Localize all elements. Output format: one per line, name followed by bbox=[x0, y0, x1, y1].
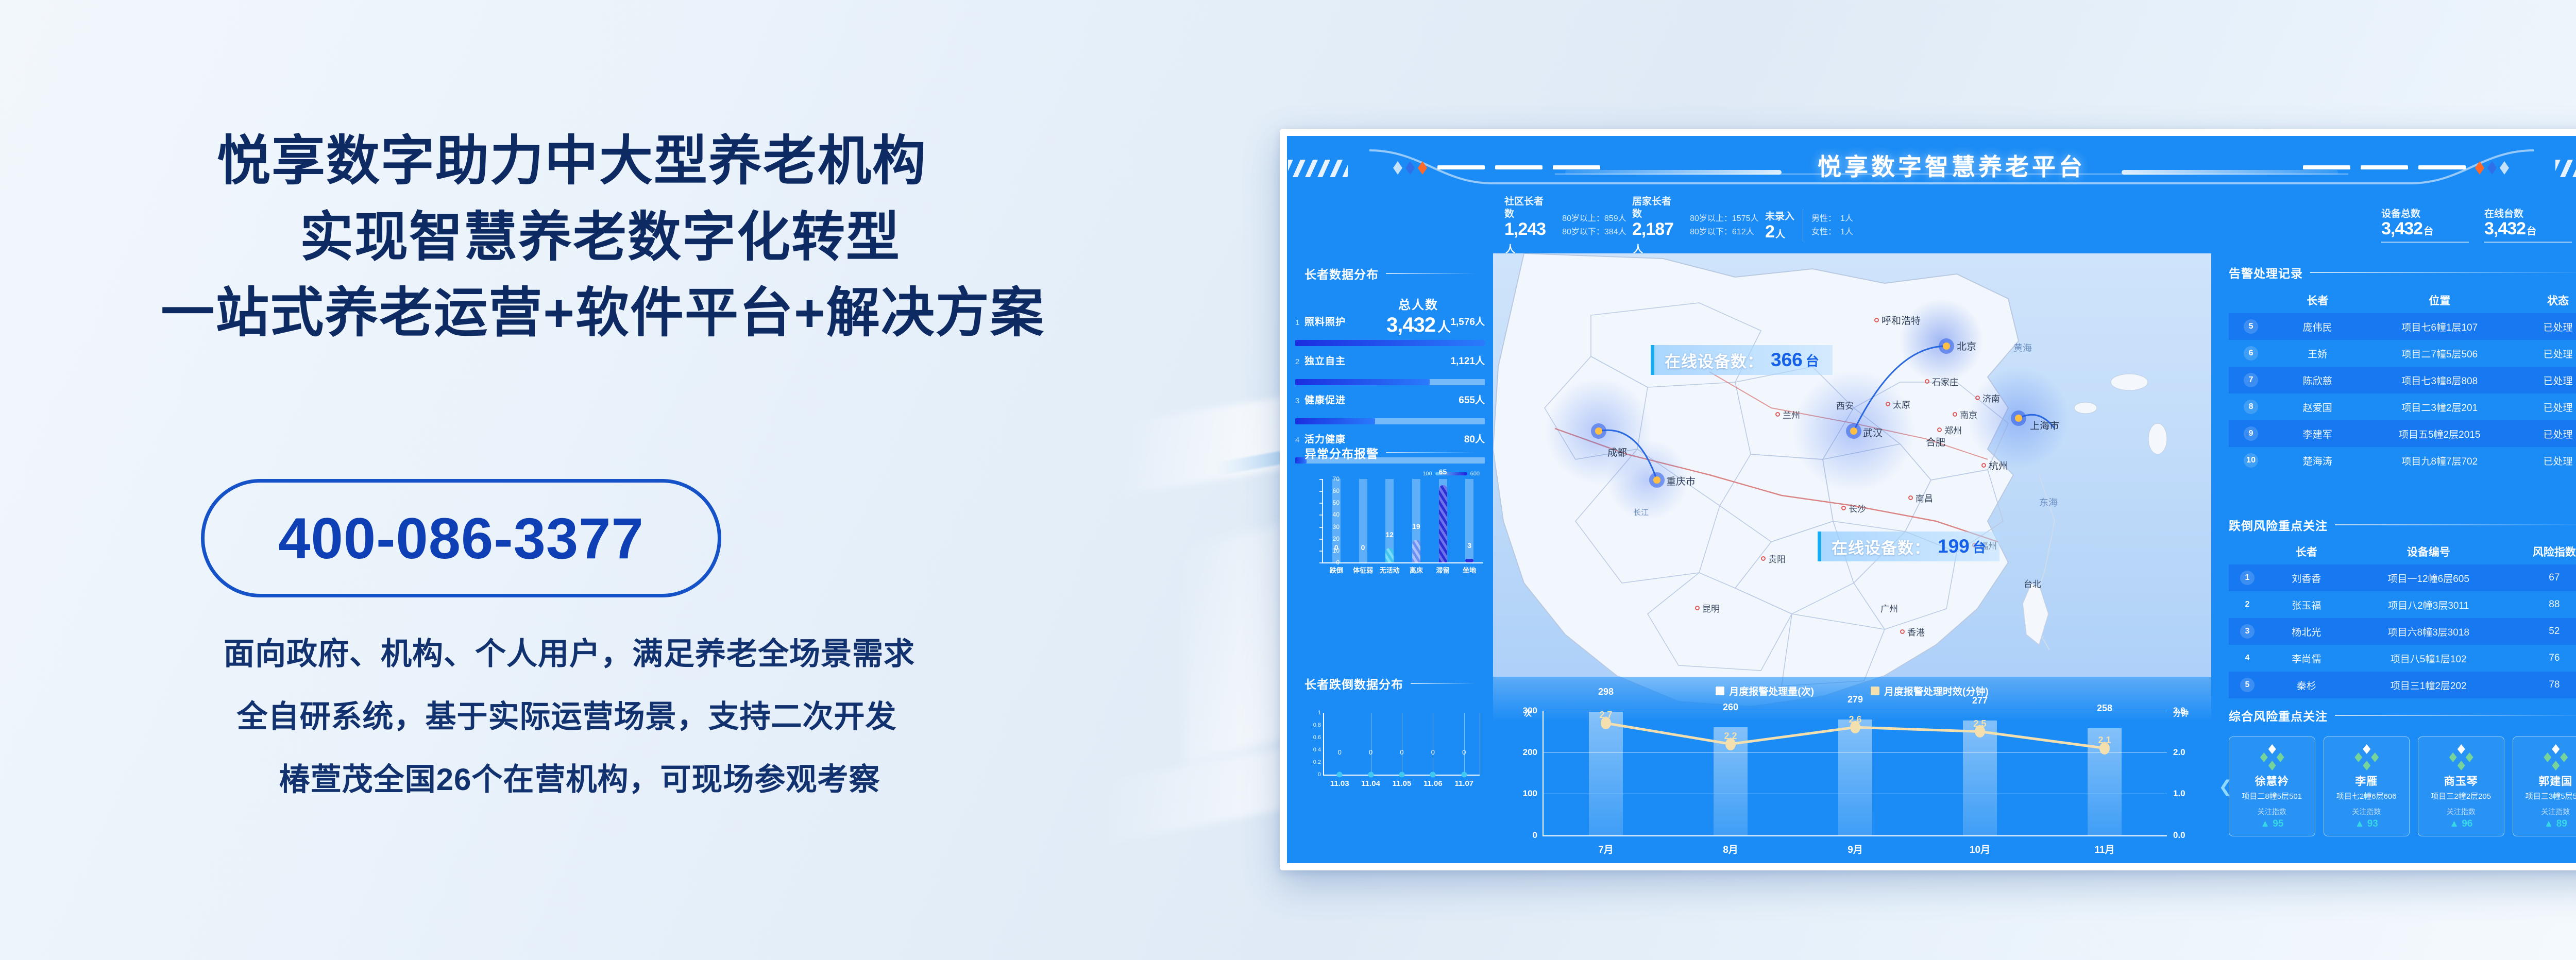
overall-risk-card-2-name: 李雁 bbox=[2327, 773, 2406, 788]
kpi-device-online-unit: 台 bbox=[2527, 226, 2536, 237]
map-city-taipei: 台北 bbox=[2024, 577, 2041, 590]
map-node-chongqing[interactable] bbox=[1653, 476, 1660, 484]
table-row[interactable]: 1 刘香香 项目一12幢6层605 67 bbox=[2229, 564, 2576, 591]
kpi-device-total-unit: 台 bbox=[2424, 226, 2433, 237]
elder-row-2-name: 独立自主 bbox=[1304, 353, 1346, 367]
fall-xlabel-2: 11.04 bbox=[1361, 779, 1380, 788]
fall-risk-row-1-index: 1 bbox=[2240, 571, 2255, 585]
abnormal-legend-min: 100 bbox=[1422, 471, 1432, 477]
elder-row-1-index: 1 bbox=[1295, 318, 1304, 327]
panel-fall-risk: 跌倒风险重点关注 长者 设备编号 风险指数 1 刘香香 bbox=[2211, 511, 2576, 701]
map-callout-199-value: 199 bbox=[1938, 536, 1970, 557]
map-city-hangzhou: 杭州 bbox=[1981, 458, 2008, 472]
kpi-unrecorded-value: 2 bbox=[1765, 222, 1774, 242]
abnormal-bar-out-of-bed[interactable]: 19 离床 bbox=[1403, 479, 1430, 562]
diamond-cluster-icon bbox=[2421, 744, 2501, 771]
overall-risk-card-1-location: 项目二8幢5层501 bbox=[2232, 791, 2312, 801]
monthly-xlabel-jul: 7月 bbox=[1598, 842, 1614, 856]
table-row[interactable]: 4 李尚儒 项目八5幢1层102 76 bbox=[2229, 645, 2576, 672]
headline-line-2: 实现智慧养老数字化转型 bbox=[57, 200, 1144, 276]
abnormal-bar-out-of-bed-value: 19 bbox=[1412, 522, 1420, 530]
map-node-wuhan[interactable] bbox=[1850, 427, 1857, 435]
subheadline-3: 椿萱茂全国26个在营机构，可现场参观考察 bbox=[15, 764, 1144, 795]
fall-risk-title: 跌倒风险重点关注 bbox=[2229, 516, 2576, 534]
kpi-device-online-value: 3,432 bbox=[2484, 219, 2526, 238]
kpi-community-under80: 80岁以下：384人 bbox=[1562, 226, 1626, 239]
overall-risk-card[interactable]: 徐慧衿 项目二8幢5层501 关注指数 ▲ 95 bbox=[2229, 736, 2315, 836]
kpi-device-total-label: 设备总数 bbox=[2381, 208, 2469, 220]
alarm-row-3-status: 已处理 bbox=[2517, 367, 2576, 393]
table-row[interactable]: 7 陈欣慈 项目七3幢8层808 已处理 bbox=[2229, 367, 2576, 393]
alarm-row-1-location: 项目七6幢1层107 bbox=[2362, 313, 2517, 340]
table-row[interactable]: 3 杨北光 项目六8幢3层3018 52 bbox=[2229, 618, 2576, 645]
fall-point[interactable] bbox=[1430, 772, 1436, 778]
map-callout-online-199[interactable]: 在线设备数： 199 台 bbox=[1818, 532, 1999, 561]
legend-item-volume[interactable]: 月度报警处理量(次) bbox=[1716, 684, 1814, 698]
table-row[interactable]: 6 王娇 项目二7幢5层506 已处理 bbox=[2229, 340, 2576, 367]
alarm-log-table[interactable]: 长者 位置 状态 5 庞伟民 项目七6幢1层107 已处理 bbox=[2229, 287, 2576, 474]
map-city-huhehaote: 呼和浩特 bbox=[1874, 313, 1921, 327]
alarm-row-1-name: 庞伟民 bbox=[2273, 313, 2362, 340]
fall-risk-row-3-device: 项目六8幢3层3018 bbox=[2347, 618, 2510, 645]
map-city-hongkong: 香港 bbox=[1900, 625, 1925, 638]
map-city-chongqing: 重庆市 bbox=[1666, 474, 1696, 488]
map-city-shijiazhuang: 石家庄 bbox=[1925, 375, 1958, 388]
legend-swatch-volume-icon bbox=[1716, 687, 1724, 695]
fall-risk-row-4-device: 项目八5幢1层102 bbox=[2347, 645, 2510, 672]
elder-row-2-value: 1,121人 bbox=[1450, 353, 1485, 367]
table-row[interactable]: 5 庞伟民 项目七6幢1层107 已处理 bbox=[2229, 313, 2576, 340]
alarm-row-1-index: 5 bbox=[2244, 319, 2258, 334]
kpi-device-total[interactable]: 设备总数 3,432台 bbox=[2366, 198, 2484, 253]
subheadline-1: 面向政府、机构、个人用户，满足养老全场景需求 bbox=[0, 639, 1144, 670]
monthly-xlabel-aug: 8月 bbox=[1723, 842, 1738, 856]
fall-value-4: 0 bbox=[1431, 748, 1435, 756]
abnormal-bar-out-of-bed-label: 离床 bbox=[1410, 565, 1423, 575]
subheadline-block: 面向政府、机构、个人用户，满足养老全场景需求 全自研系统，基于实际运营场景，支持… bbox=[62, 639, 1144, 827]
overall-risk-card-4-score: 89 bbox=[2556, 818, 2567, 829]
alarm-col-location: 位置 bbox=[2362, 287, 2517, 313]
carousel-prev-icon[interactable]: ❮ bbox=[2218, 777, 2232, 796]
up-triangle-icon: ▲ bbox=[2260, 818, 2270, 829]
alarm-col-index bbox=[2229, 287, 2273, 313]
table-row[interactable]: 5 秦杉 项目三1幢2层202 78 bbox=[2229, 672, 2576, 698]
abnormal-bar-stay[interactable]: 65 滞留 bbox=[1430, 479, 1456, 562]
fall-value-2: 0 bbox=[1369, 748, 1372, 756]
map-city-hefei: 合肥 bbox=[1926, 435, 1945, 449]
table-row[interactable]: 10 楚海涛 项目九8幢7层702 已处理 bbox=[2229, 447, 2576, 474]
map-city-kunming: 昆明 bbox=[1695, 602, 1720, 614]
monthly-chart-plot: 300 200 100 0 3.0 2.0 1.0 0.0 298 7月 260… bbox=[1543, 711, 2167, 836]
alarm-row-5-name: 李建军 bbox=[2273, 420, 2362, 447]
elder-distribution-row[interactable]: 1 照料照护 1,576人 bbox=[1295, 314, 1485, 353]
kpi-unrecorded-male: 男性： 1人 bbox=[1811, 212, 1853, 226]
abnormal-bar-weak-vitals[interactable]: 0 体征弱 bbox=[1350, 479, 1377, 562]
elder-row-3-index: 3 bbox=[1295, 397, 1304, 405]
monthly-bar-value-sep: 279 bbox=[1848, 694, 1863, 705]
monthly-xlabel-sep: 9月 bbox=[1848, 842, 1863, 856]
overall-risk-card-1-index-label: 关注指数 bbox=[2232, 807, 2312, 817]
map-city-wuhan: 武汉 bbox=[1863, 425, 1883, 439]
map-flight-arcs-icon bbox=[1493, 253, 2211, 727]
kpi-home[interactable]: 居家长者数 2,187人 80岁以上：1575人 80岁以下：612人 bbox=[1622, 198, 1755, 253]
map-callout-199-label: 在线设备数： bbox=[1832, 535, 1930, 558]
alarm-row-3-index: 7 bbox=[2244, 373, 2258, 387]
alarm-row-6-index: 10 bbox=[2244, 453, 2258, 468]
up-triangle-icon: ▲ bbox=[2449, 818, 2459, 829]
overall-risk-card-1-name: 徐慧衿 bbox=[2232, 773, 2312, 788]
monthly-alarm-chart[interactable]: 月度报警处理量(次) 月度报警处理时效(分钟) 次 分钟 300 200 100… bbox=[1493, 677, 2211, 863]
monthly-bar-value-jul: 298 bbox=[1598, 687, 1614, 697]
elder-row-3-value: 655人 bbox=[1459, 392, 1485, 406]
map-city-nanchang: 南昌 bbox=[1908, 491, 1933, 504]
overall-risk-card-3-name: 商玉琴 bbox=[2421, 773, 2501, 788]
overall-risk-card[interactable]: 李雁 项目七2幢6层606 关注指数 ▲ 93 bbox=[2324, 736, 2410, 836]
headline-line-3: 一站式养老运营+软件平台+解决方案 bbox=[62, 276, 1144, 352]
fall-value-3: 0 bbox=[1400, 748, 1403, 756]
overall-risk-card-3-index-label: 关注指数 bbox=[2421, 807, 2501, 817]
map-node-chengdu[interactable] bbox=[1595, 427, 1602, 435]
fall-xlabel-3: 11.05 bbox=[1393, 779, 1412, 788]
elder-row-3-name: 健康促进 bbox=[1304, 392, 1346, 406]
fall-risk-row-2-device: 项目八2幢3层3011 bbox=[2347, 591, 2510, 618]
fall-point[interactable] bbox=[1368, 772, 1374, 778]
alarm-row-4-name: 赵爱国 bbox=[2273, 393, 2362, 420]
alarm-row-3-location: 项目七3幢8层808 bbox=[2362, 367, 2517, 393]
alarm-row-2-location: 项目二7幢5层506 bbox=[2362, 340, 2517, 367]
alarm-row-6-name: 楚海涛 bbox=[2273, 447, 2362, 474]
kpi-unrecorded-label: 未录入 bbox=[1765, 211, 1794, 223]
table-row[interactable]: 9 李建军 项目五5幢2层2015 已处理 bbox=[2229, 420, 2576, 447]
abnormal-chart-axes: 70 60 50 40 30 20 10 0 0 bbox=[1322, 479, 1483, 563]
abnormal-bar-weak-vitals-value: 0 bbox=[1361, 543, 1365, 552]
fall-risk-row-3-name: 杨北光 bbox=[2266, 618, 2347, 645]
abnormal-bar-stay-value: 65 bbox=[1439, 468, 1447, 476]
alarm-row-4-status: 已处理 bbox=[2517, 393, 2576, 420]
up-triangle-icon: ▲ bbox=[2355, 818, 2365, 829]
elder-distribution-title: 长者数据分布 bbox=[1304, 265, 1476, 282]
fall-risk-row-5-device: 项目三1幢2层202 bbox=[2347, 672, 2510, 698]
fall-xlabel-5: 11.07 bbox=[1454, 779, 1473, 788]
right-panel-column: 告警处理记录 长者 位置 状态 5 庞伟民 bbox=[2211, 253, 2576, 863]
overall-risk-card[interactable]: 商玉琴 项目三2幢2层205 关注指数 ▲ 96 bbox=[2418, 736, 2504, 836]
map-city-jinan: 济南 bbox=[1975, 391, 2000, 404]
elder-total-label: 总人数 bbox=[1354, 295, 1483, 313]
fall-risk-col-score: 风险指数 bbox=[2510, 539, 2576, 564]
map-callout-online-366[interactable]: 在线设备数： 366 台 bbox=[1651, 345, 1833, 375]
fall-risk-col-elder: 长者 bbox=[2266, 539, 2347, 564]
monitor: 悦享数字智慧养老平台 社区长者数 1,243人 80岁以上：859人 80岁以下… bbox=[1280, 129, 2576, 870]
alarm-row-4-location: 项目二3幢2层201 bbox=[2362, 393, 2517, 420]
kpi-unrecorded[interactable]: 未录入 2人 男性： 1人 女性： 1人 bbox=[1755, 198, 1884, 253]
dashboard-header: 悦享数字智慧养老平台 bbox=[1287, 136, 2576, 198]
overall-risk-card-list: 徐慧衿 项目二8幢5层501 关注指数 ▲ 95 bbox=[2211, 736, 2576, 836]
map-city-lanzhou: 兰州 bbox=[1775, 408, 1800, 421]
alarm-row-5-index: 9 bbox=[2244, 426, 2258, 441]
phone-cta[interactable]: 400-086-3377 bbox=[201, 479, 721, 597]
legend-swatch-efficiency-icon bbox=[1871, 687, 1879, 695]
map-callout-199-unit: 台 bbox=[1973, 537, 1986, 556]
abnormal-bar-sit-floor-label: 坐地 bbox=[1463, 565, 1476, 575]
map-city-xian: 西安 bbox=[1836, 399, 1854, 412]
phone-number: 400-086-3377 bbox=[278, 505, 643, 572]
overall-risk-card-4-index-label: 关注指数 bbox=[2516, 807, 2576, 817]
fall-value-1: 0 bbox=[1338, 748, 1342, 756]
elder-distribution-row[interactable]: 2 独立自主 1,121人 bbox=[1295, 353, 1485, 392]
monthly-xlabel-nov: 11月 bbox=[2094, 842, 2114, 856]
alarm-row-5-status: 已处理 bbox=[2517, 420, 2576, 447]
monthly-bar-value-oct: 277 bbox=[1972, 695, 1988, 706]
fall-risk-row-5-index: 5 bbox=[2240, 678, 2255, 692]
abnormal-chart-legend: 100 600 bbox=[1422, 471, 1480, 477]
fall-value-5: 0 bbox=[1462, 748, 1466, 756]
kpi-home-under80: 80岁以下：612人 bbox=[1690, 226, 1758, 239]
fall-risk-row-4-name: 李尚儒 bbox=[2266, 645, 2347, 672]
monthly-line-value-nov: 2.1 bbox=[2098, 735, 2111, 746]
map-city-taiyuan: 太原 bbox=[1886, 398, 1910, 410]
alarm-col-status: 状态 bbox=[2517, 287, 2576, 313]
map-sea-huanghai: 黄海 bbox=[2013, 341, 2032, 354]
abnormal-bar-no-activity[interactable]: 12 无活动 bbox=[1376, 479, 1403, 562]
elder-row-1-name: 照料照护 bbox=[1304, 314, 1346, 328]
monthly-line-value-jul: 2.7 bbox=[1599, 710, 1612, 721]
kpi-device-online[interactable]: 在线台数 3,432台 bbox=[2484, 198, 2576, 253]
headline-block: 悦享数字助力中大型养老机构 实现智慧养老数字化转型 一站式养老运营+软件平台+解… bbox=[62, 124, 1144, 352]
kpi-home-value: 2,187 bbox=[1632, 219, 1673, 239]
diamond-cluster-icon bbox=[2327, 744, 2406, 771]
elder-distribution-row[interactable]: 3 健康促进 655人 bbox=[1295, 392, 1485, 432]
kpi-community-value: 1,243 bbox=[1504, 219, 1546, 239]
overall-risk-card-3-score: 96 bbox=[2462, 818, 2472, 829]
alarm-log-header-row: 长者 位置 状态 bbox=[2229, 287, 2576, 313]
kpi-unrecorded-female: 女性： 1人 bbox=[1811, 226, 1853, 239]
overall-risk-title: 综合风险重点关注 bbox=[2229, 707, 2576, 724]
subheadline-2: 全自研系统，基于实际运营场景，支持二次开发 bbox=[0, 701, 1144, 732]
elder-row-2-index: 2 bbox=[1295, 357, 1304, 366]
fall-distribution-title: 长者跌倒数据分布 bbox=[1304, 675, 1476, 692]
fall-point[interactable] bbox=[1399, 772, 1405, 778]
headline-line-1: 悦享数字助力中大型养老机构 bbox=[0, 124, 1144, 200]
marketing-column: 悦享数字助力中大型养老机构 实现智慧养老数字化转型 一站式养老运营+软件平台+解… bbox=[0, 0, 1195, 960]
panel-alarm-log: 告警处理记录 长者 位置 状态 5 庞伟民 bbox=[2211, 253, 2576, 511]
table-row[interactable]: 2 张玉福 项目八2幢3层3011 88 bbox=[2229, 591, 2576, 618]
map-river-changjiang: 长江 bbox=[1633, 507, 1649, 518]
alarm-row-2-name: 王娇 bbox=[2273, 340, 2362, 367]
table-row[interactable]: 8 赵爱国 项目二3幢2层201 已处理 bbox=[2229, 393, 2576, 420]
abnormal-bar-fall-value: 0 bbox=[1334, 543, 1338, 552]
diamond-cluster-icon bbox=[2232, 744, 2312, 771]
overall-risk-card[interactable]: 郭建国 项目三3幢5层502 关注指数 ▲ 89 bbox=[2513, 736, 2576, 836]
map-callout-366-label: 在线设备数： bbox=[1665, 349, 1764, 372]
legend-item-efficiency[interactable]: 月度报警处理时效(分钟) bbox=[1871, 684, 1989, 698]
fall-risk-row-4-score: 76 bbox=[2510, 645, 2576, 672]
kpi-community[interactable]: 社区长者数 1,243人 80岁以上：859人 80岁以下：384人 bbox=[1493, 198, 1622, 253]
dashboard-screen: 悦享数字智慧养老平台 社区长者数 1,243人 80岁以上：859人 80岁以下… bbox=[1287, 136, 2576, 863]
alarm-row-1-status: 已处理 bbox=[2517, 313, 2576, 340]
abnormal-bar-no-activity-value: 12 bbox=[1385, 530, 1394, 539]
map-city-changsha: 长沙 bbox=[1841, 502, 1866, 515]
panel-overall-risk: 综合风险重点关注 ❮ ❯ 徐慧衿 bbox=[2211, 705, 2576, 863]
left-panel-column: 长者数据分布 总人数 3,432人 1 照料照护 1,576人 bbox=[1287, 253, 1493, 863]
overall-risk-card-2-score: 93 bbox=[2367, 818, 2378, 829]
map-city-beijing: 北京 bbox=[1957, 339, 1976, 353]
map-city-guiyang: 贵阳 bbox=[1761, 552, 1786, 565]
monthly-xlabel-oct: 10月 bbox=[1970, 842, 1990, 856]
abnormal-bar-sit-floor[interactable]: 3 坐地 bbox=[1456, 479, 1483, 562]
china-map[interactable]: 呼和浩特 北京 石家庄 太原 济南 郑州 西安 兰州 成都 重庆市 武汉 合肥 … bbox=[1493, 253, 2211, 727]
alarm-row-6-location: 项目九8幢7层702 bbox=[2362, 447, 2517, 474]
abnormal-alarm-chart[interactable]: 100 600 70 60 50 40 30 20 10 0 bbox=[1302, 479, 1483, 577]
fall-risk-row-1-score: 67 bbox=[2510, 564, 2576, 591]
alarm-row-4-index: 8 bbox=[2244, 400, 2258, 414]
abnormal-bar-no-activity-label: 无活动 bbox=[1380, 565, 1400, 575]
alarm-row-5-location: 项目五5幢2层2015 bbox=[2362, 420, 2517, 447]
fall-risk-row-2-index: 2 bbox=[2240, 597, 2255, 612]
fall-risk-row-3-score: 52 bbox=[2510, 618, 2576, 645]
alarm-row-6-status: 已处理 bbox=[2517, 447, 2576, 474]
abnormal-alarm-title: 异常分布报警 bbox=[1304, 444, 1476, 461]
dashboard-title: 悦享数字智慧养老平台 bbox=[1287, 148, 2576, 182]
map-city-guangzhou: 广州 bbox=[1880, 602, 1898, 614]
kpi-community-label: 社区长者数 bbox=[1504, 196, 1546, 220]
abnormal-bar-fall-label: 跌倒 bbox=[1330, 565, 1343, 575]
fall-risk-row-5-name: 秦杉 bbox=[2266, 672, 2347, 698]
map-node-shanghai[interactable] bbox=[2015, 415, 2022, 422]
alarm-row-3-name: 陈欣慈 bbox=[2273, 367, 2362, 393]
fall-xlabel-4: 11.06 bbox=[1423, 779, 1443, 788]
fall-point[interactable] bbox=[1337, 772, 1343, 778]
fall-risk-row-2-score: 88 bbox=[2510, 591, 2576, 618]
up-triangle-icon: ▲ bbox=[2544, 818, 2554, 829]
elder-row-2-bar bbox=[1295, 379, 1430, 385]
map-callout-366-value: 366 bbox=[1771, 349, 1803, 371]
fall-risk-header-row: 长者 设备编号 风险指数 bbox=[2229, 539, 2576, 564]
panel-fall-distribution: 长者跌倒数据分布 1 0.8 0.6 0.4 0.2 0 bbox=[1287, 665, 1493, 863]
fall-risk-row-3-index: 3 bbox=[2240, 624, 2255, 639]
map-city-nanjing: 南京 bbox=[1953, 408, 1977, 421]
alarm-row-2-status: 已处理 bbox=[2517, 340, 2576, 367]
kpi-home-label: 居家长者数 bbox=[1632, 196, 1673, 220]
legend-label-volume: 月度报警处理量(次) bbox=[1729, 684, 1814, 698]
alarm-log-title: 告警处理记录 bbox=[2229, 264, 2576, 281]
kpi-unrecorded-unit: 人 bbox=[1775, 229, 1785, 240]
abnormal-bar-sit-floor-value: 3 bbox=[1467, 541, 1471, 550]
map-callout-366-unit: 台 bbox=[1806, 351, 1819, 370]
overall-risk-card-4-location: 项目三3幢5层502 bbox=[2516, 791, 2576, 801]
fall-risk-row-5-score: 78 bbox=[2510, 672, 2576, 698]
abnormal-bar-fall[interactable]: 0 跌倒 bbox=[1323, 479, 1350, 562]
monthly-line-value-aug: 2.2 bbox=[1724, 731, 1737, 742]
fall-risk-row-4-index: 4 bbox=[2240, 651, 2255, 665]
map-city-shanghai: 上海市 bbox=[2030, 418, 2059, 432]
monthly-line-value-oct: 2.5 bbox=[1973, 718, 1986, 729]
abnormal-legend-max: 600 bbox=[1470, 471, 1480, 477]
elder-row-1-value: 1,576人 bbox=[1450, 314, 1485, 328]
abnormal-bar-stay-label: 滞留 bbox=[1436, 565, 1450, 575]
monthly-line-value-sep: 2.6 bbox=[1849, 714, 1861, 725]
kpi-device-total-value: 3,432 bbox=[2381, 219, 2422, 238]
kpi-community-over80: 80岁以上：859人 bbox=[1562, 212, 1626, 226]
overall-risk-card-2-index-label: 关注指数 bbox=[2327, 807, 2406, 817]
fall-risk-row-1-device: 项目一12幢6层605 bbox=[2347, 564, 2510, 591]
fall-risk-col-device: 设备编号 bbox=[2347, 539, 2510, 564]
overall-risk-card-3-location: 项目三2幢2层205 bbox=[2421, 791, 2501, 801]
fall-chart-plot: 1 0.8 0.6 0.4 0.2 0 bbox=[1323, 713, 1480, 776]
panel-abnormal-alarm: 异常分布报警 100 600 70 60 50 40 30 20 bbox=[1287, 435, 1493, 651]
map-city-chengdu: 成都 bbox=[1607, 445, 1627, 459]
overall-risk-card-2-location: 项目七2幢6层606 bbox=[2327, 791, 2406, 801]
fall-risk-row-2-name: 张玉福 bbox=[2266, 591, 2347, 618]
overall-risk-card-4-name: 郭建国 bbox=[2516, 773, 2576, 788]
kpi-home-over80: 80岁以上：1575人 bbox=[1690, 212, 1758, 226]
alarm-col-elder: 长者 bbox=[2273, 287, 2362, 313]
map-sea-donghai: 东海 bbox=[2039, 495, 2058, 509]
fall-risk-row-1-name: 刘香香 bbox=[2266, 564, 2347, 591]
alarm-row-2-index: 6 bbox=[2244, 346, 2258, 361]
fall-risk-col-index bbox=[2229, 539, 2266, 564]
elder-row-3-bar bbox=[1295, 418, 1375, 424]
overall-risk-card-1-score: 95 bbox=[2273, 818, 2283, 829]
fall-point[interactable] bbox=[1461, 772, 1467, 778]
kpi-strip: 社区长者数 1,243人 80岁以上：859人 80岁以下：384人 居家长者数… bbox=[1287, 198, 2576, 253]
fall-xlabel-1: 11.03 bbox=[1330, 779, 1349, 788]
fall-risk-table[interactable]: 长者 设备编号 风险指数 1 刘香香 项目一12幢6层605 67 bbox=[2229, 539, 2576, 698]
diamond-cluster-icon bbox=[2516, 744, 2576, 771]
fall-distribution-chart[interactable]: 1 0.8 0.6 0.4 0.2 0 bbox=[1300, 713, 1482, 790]
abnormal-bar-weak-vitals-label: 体征弱 bbox=[1353, 565, 1373, 575]
map-node-beijing[interactable] bbox=[1943, 342, 1950, 350]
elder-row-1-bar bbox=[1295, 340, 1485, 346]
kpi-device-online-label: 在线台数 bbox=[2484, 208, 2572, 220]
